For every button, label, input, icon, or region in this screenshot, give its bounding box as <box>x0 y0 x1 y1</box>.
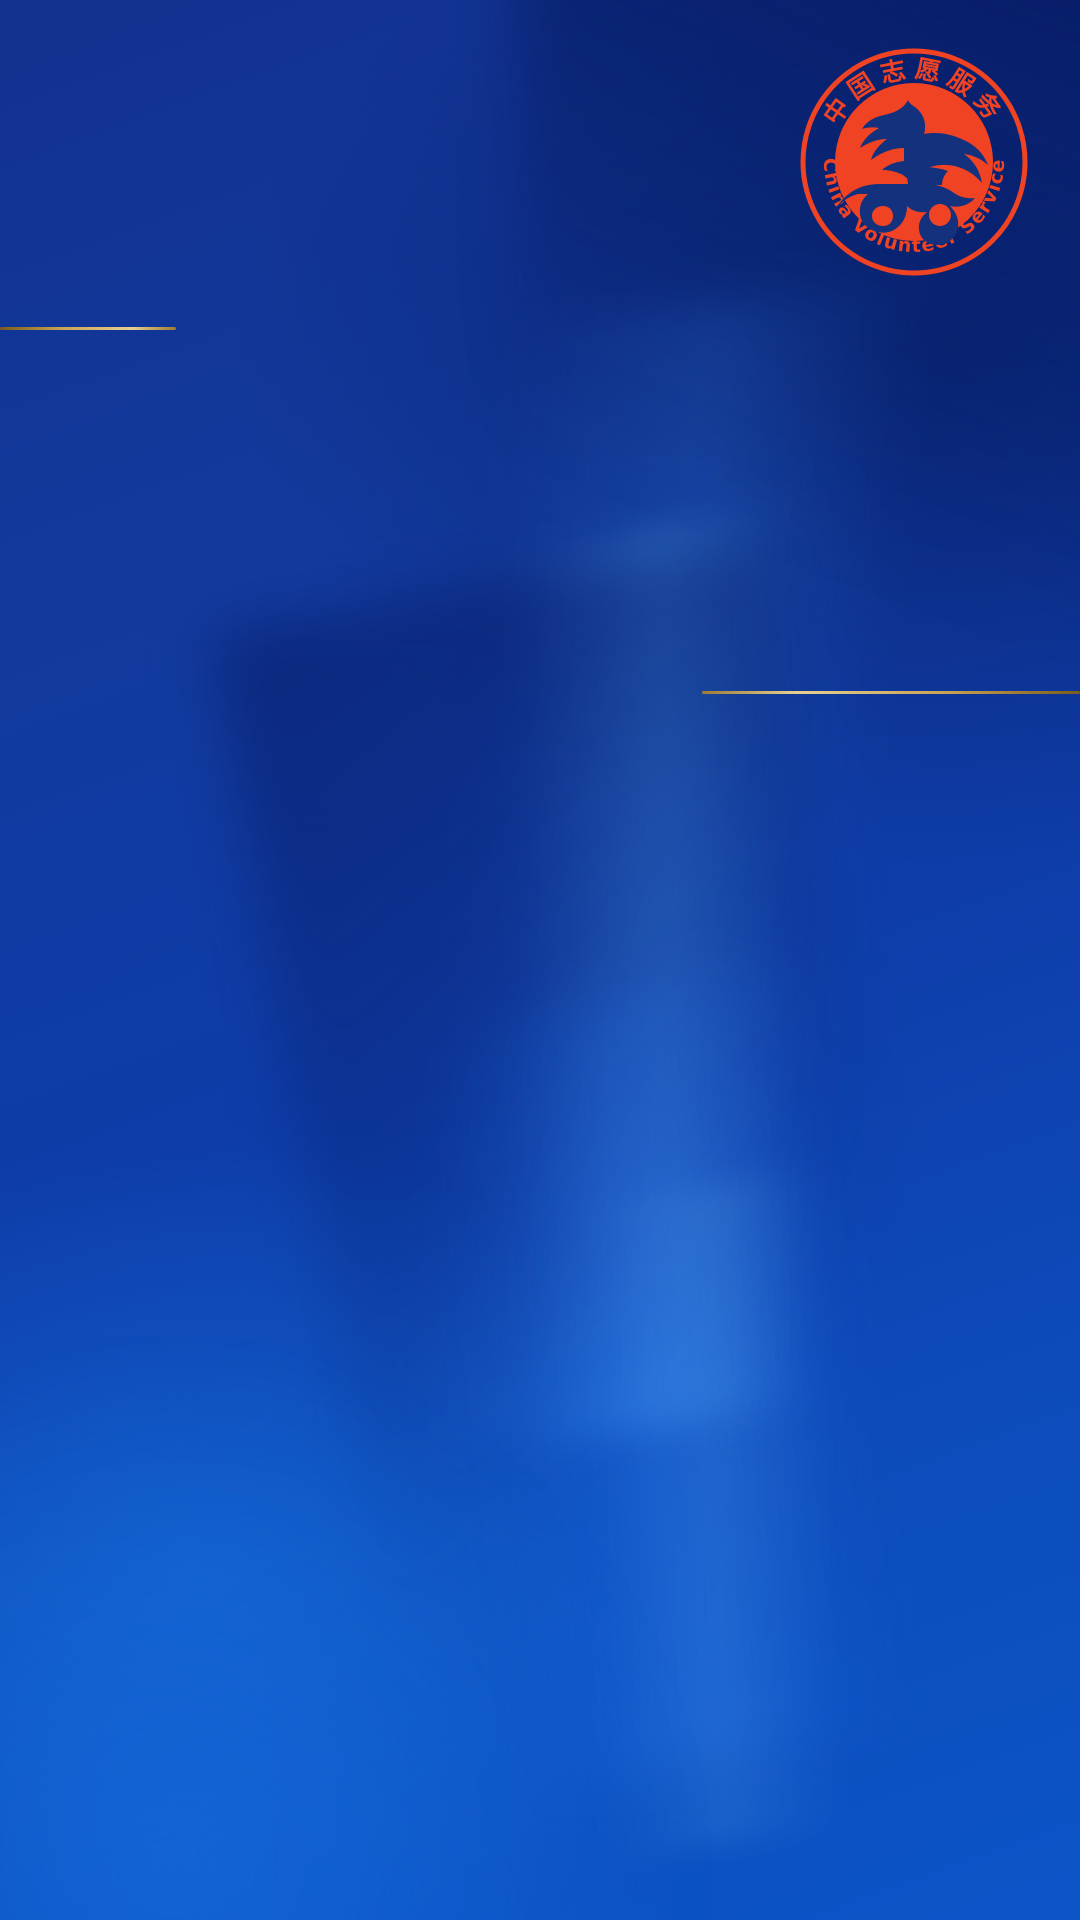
china-volunteer-service-logo: 中国志愿服务 China Volunteer Service <box>800 48 1028 276</box>
poster-canvas: 中国志愿服务 China Volunteer Service <box>0 0 1080 1920</box>
gold-rule-top-left <box>0 327 176 330</box>
heart-decoration-band <box>0 1600 1080 1920</box>
gold-rule-right <box>702 691 1080 694</box>
